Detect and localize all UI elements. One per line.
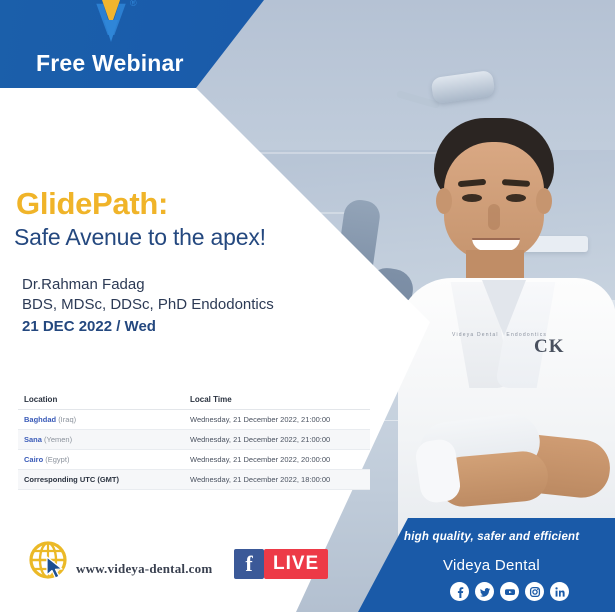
local-time-cell: Wednesday, 21 December 2022, 20:00:00	[184, 450, 370, 470]
table-row: Sana (Yemen) Wednesday, 21 December 2022…	[18, 430, 370, 450]
column-header-local-time: Local Time	[184, 390, 370, 410]
eye-left	[462, 194, 482, 202]
speaker-name: Dr.Rahman Fadag	[22, 276, 145, 293]
facebook-icon[interactable]	[450, 582, 469, 601]
free-webinar-badge: Free Webinar	[36, 50, 184, 77]
timezone-table: Location Local Time Baghdad (Iraq) Wedne…	[18, 390, 370, 490]
utc-label: Corresponding UTC (GMT)	[24, 475, 119, 484]
local-time-cell: Wednesday, 21 December 2022, 21:00:00	[184, 430, 370, 450]
footer-tagline: high quality, safer and efficient	[404, 531, 579, 543]
twitter-icon[interactable]	[475, 582, 494, 601]
ear-left	[436, 188, 452, 214]
location-cell: Sana (Yemen)	[18, 430, 184, 450]
country-label: (Yemen)	[44, 435, 72, 444]
webinar-poster: Videya Dental Endodontics CK V ® Free We…	[0, 0, 615, 612]
registered-trademark-icon: ®	[130, 0, 137, 8]
speaker-credentials: BDS, MDSc, DDSc, PhD Endodontics	[22, 296, 274, 313]
ear-right	[536, 188, 552, 214]
city-link[interactable]: Sana	[24, 435, 42, 444]
coat-embroidery: Videya Dental Endodontics	[452, 332, 547, 338]
videya-logo: V ®	[82, 0, 140, 48]
location-cell-utc: Corresponding UTC (GMT)	[18, 470, 184, 490]
table-header-row: Location Local Time	[18, 390, 370, 410]
linkedin-icon[interactable]	[550, 582, 569, 601]
page-title: GlidePath:	[16, 186, 168, 222]
coat-brand-text: CK	[534, 336, 565, 358]
cursor-arrow-icon	[46, 556, 66, 580]
website-url[interactable]: www.videya-dental.com	[76, 561, 212, 577]
local-time-cell: Wednesday, 21 December 2022, 21:00:00	[184, 410, 370, 430]
facebook-live-badge[interactable]: f LIVE	[234, 549, 328, 579]
table-row-utc: Corresponding UTC (GMT) Wednesday, 21 De…	[18, 470, 370, 490]
column-header-location: Location	[18, 390, 184, 410]
country-label: (Egypt)	[45, 455, 69, 464]
dentist-portrait: Videya Dental Endodontics CK	[398, 118, 615, 538]
location-cell: Cairo (Egypt)	[18, 450, 184, 470]
facebook-f-icon[interactable]: f	[234, 549, 264, 579]
logo-blue-triangle-icon	[104, 20, 118, 42]
table-row: Cairo (Egypt) Wednesday, 21 December 202…	[18, 450, 370, 470]
social-links	[450, 582, 569, 601]
page-subtitle: Safe Avenue to the apex!	[14, 224, 266, 251]
instagram-icon[interactable]	[525, 582, 544, 601]
nose	[488, 204, 500, 230]
location-cell: Baghdad (Iraq)	[18, 410, 184, 430]
country-label: (Iraq)	[58, 415, 76, 424]
live-label: LIVE	[264, 549, 328, 579]
webinar-date: 21 DEC 2022 / Wed	[22, 318, 156, 335]
eye-right	[506, 194, 526, 202]
utc-time-cell: Wednesday, 21 December 2022, 18:00:00	[184, 470, 370, 490]
footer-brand-name: Videya Dental	[443, 557, 540, 574]
city-link[interactable]: Cairo	[24, 455, 43, 464]
city-link[interactable]: Baghdad	[24, 415, 56, 424]
youtube-icon[interactable]	[500, 582, 519, 601]
table-row: Baghdad (Iraq) Wednesday, 21 December 20…	[18, 410, 370, 430]
